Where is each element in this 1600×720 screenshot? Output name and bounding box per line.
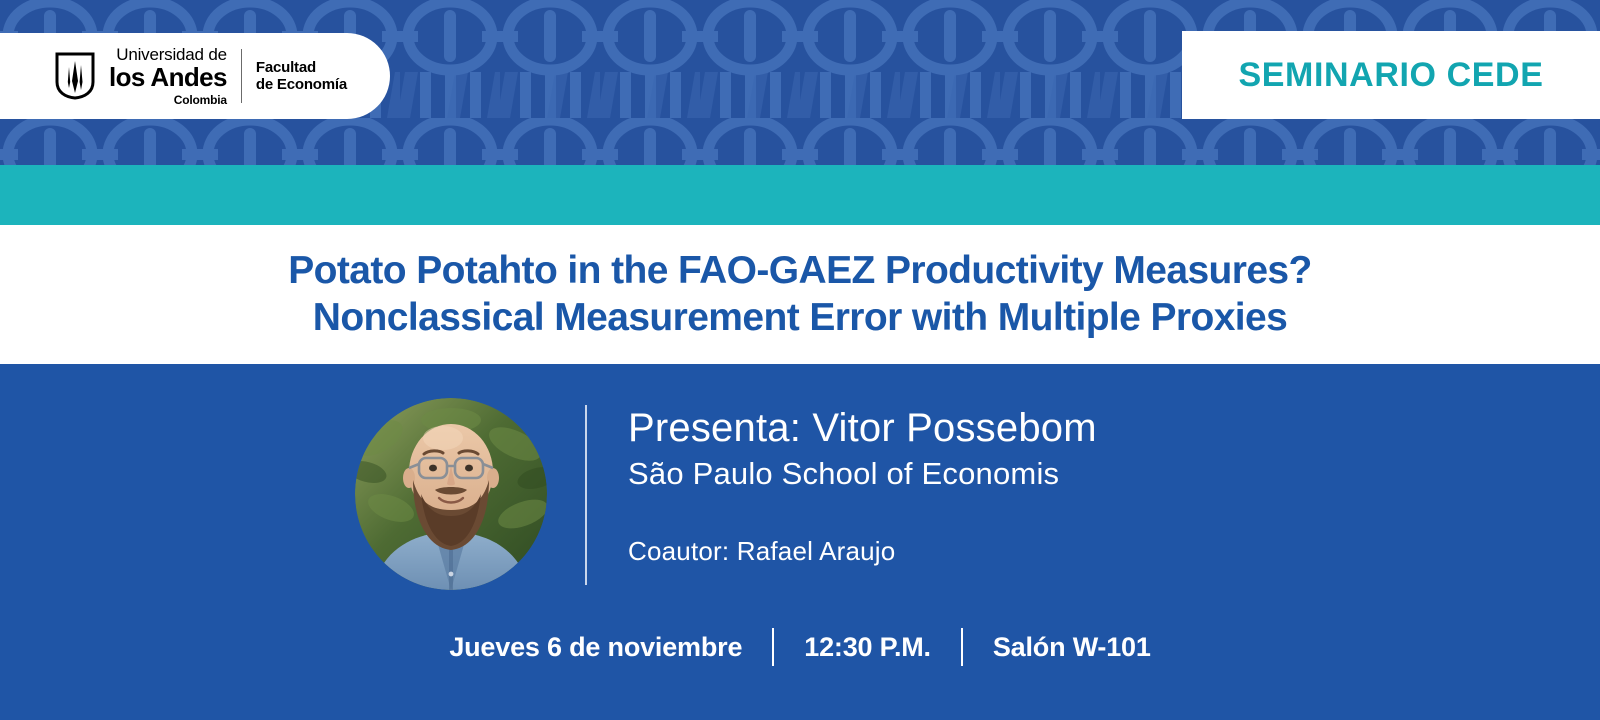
coauthor-name: Coautor: Rafael Araujo — [628, 536, 1348, 567]
speaker-avatar — [355, 398, 547, 590]
talk-title-line-2: Nonclassical Measurement Error with Mult… — [313, 295, 1287, 341]
header-bar: Universidad de los Andes Colombia Facult… — [0, 0, 1600, 165]
seminar-badge: SEMINARIO CEDE — [1182, 31, 1600, 119]
event-time: 12:30 P.M. — [774, 632, 961, 663]
logo-divider — [241, 49, 242, 103]
presenter-name: Presenta: Vitor Possebom — [628, 406, 1348, 451]
faculty-line-2: de Economía — [256, 76, 347, 93]
university-logo-pill: Universidad de los Andes Colombia Facult… — [0, 33, 390, 119]
seminar-badge-label: SEMINARIO CEDE — [1239, 56, 1544, 95]
seminar-announcement-banner: Universidad de los Andes Colombia Facult… — [0, 0, 1600, 720]
speaker-portrait-image — [355, 398, 547, 590]
talk-title-line-1: Potato Potahto in the FAO-GAEZ Productiv… — [288, 248, 1311, 294]
speaker-divider — [585, 405, 587, 585]
speaker-info: Presenta: Vitor Possebom São Paulo Schoo… — [628, 406, 1348, 567]
logo-line-los-andes: los Andes — [109, 64, 227, 90]
faculty-line-1: Facultad — [256, 59, 347, 76]
title-band: Potato Potahto in the FAO-GAEZ Productiv… — [0, 225, 1600, 364]
universidad-de-los-andes-shield-icon — [55, 52, 95, 100]
teal-accent-stripe — [0, 165, 1600, 225]
logo-line-universidad: Universidad de — [116, 46, 227, 63]
speaker-affiliation: São Paulo School of Economis — [628, 455, 1348, 492]
logo-line-colombia: Colombia — [174, 94, 227, 106]
event-location: Salón W-101 — [963, 632, 1181, 663]
event-details-bar: Jueves 6 de noviembre 12:30 P.M. Salón W… — [0, 622, 1600, 672]
faculty-name: Facultad de Economía — [256, 59, 347, 94]
event-date: Jueves 6 de noviembre — [419, 632, 772, 663]
